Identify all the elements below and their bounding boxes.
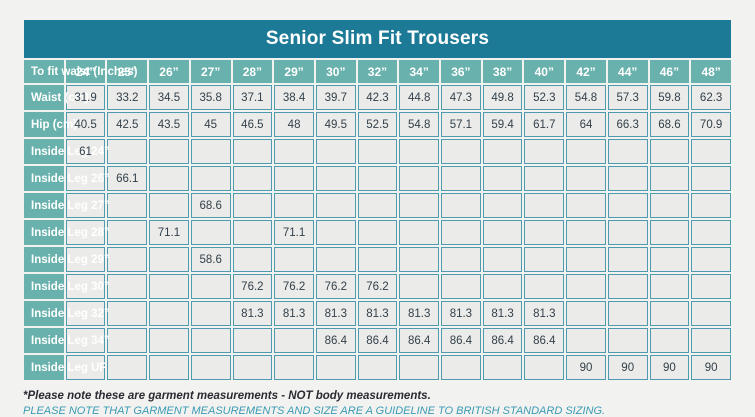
data-cell bbox=[358, 247, 398, 272]
data-cell bbox=[149, 139, 189, 164]
size-chart-body: Senior Slim Fit Trousers To fit waist (I… bbox=[24, 20, 731, 380]
data-cell bbox=[316, 166, 356, 191]
data-cell: 66.3 bbox=[608, 112, 648, 137]
data-cell bbox=[399, 193, 439, 218]
data-cell bbox=[650, 193, 690, 218]
data-cell bbox=[566, 274, 606, 299]
data-cell bbox=[107, 328, 147, 353]
data-cell: 81.3 bbox=[441, 301, 481, 326]
data-cell: 39.7 bbox=[316, 85, 356, 110]
data-cell: 81.3 bbox=[233, 301, 273, 326]
data-cell: 71.1 bbox=[274, 220, 314, 245]
data-cell: 81.3 bbox=[274, 301, 314, 326]
data-cell bbox=[691, 220, 731, 245]
data-cell: 68.6 bbox=[650, 112, 690, 137]
data-cell bbox=[483, 166, 523, 191]
data-cell: 76.2 bbox=[274, 274, 314, 299]
row-label: Inside Leg 29” bbox=[24, 247, 64, 272]
chart-title: Senior Slim Fit Trousers bbox=[24, 20, 731, 58]
row-label-header: To fit waist (Inches) bbox=[24, 60, 64, 83]
data-cell bbox=[483, 247, 523, 272]
data-cell bbox=[650, 328, 690, 353]
data-cell bbox=[441, 274, 481, 299]
table-row: Inside Leg 24”61 bbox=[24, 139, 731, 164]
data-cell bbox=[608, 220, 648, 245]
data-cell bbox=[274, 139, 314, 164]
row-label: Inside Leg 32” bbox=[24, 301, 64, 326]
row-label: Inside Leg 26” bbox=[24, 166, 64, 191]
column-header: 32” bbox=[358, 60, 398, 83]
size-chart-page: Senior Slim Fit Trousers To fit waist (I… bbox=[0, 0, 755, 410]
footnote-secondary: PLEASE NOTE THAT GARMENT MEASUREMENTS AN… bbox=[23, 405, 733, 417]
column-header: 26” bbox=[149, 60, 189, 83]
data-cell bbox=[274, 193, 314, 218]
data-cell bbox=[441, 355, 481, 380]
data-cell bbox=[608, 247, 648, 272]
data-cell: 86.4 bbox=[441, 328, 481, 353]
data-cell bbox=[233, 220, 273, 245]
data-cell bbox=[566, 247, 606, 272]
table-row: Inside Leg 28”71.171.1 bbox=[24, 220, 731, 245]
data-cell: 54.8 bbox=[399, 112, 439, 137]
data-cell: 52.5 bbox=[358, 112, 398, 137]
data-cell bbox=[399, 166, 439, 191]
data-cell bbox=[399, 247, 439, 272]
column-header: 28” bbox=[233, 60, 273, 83]
data-cell bbox=[608, 166, 648, 191]
data-cell: 47.3 bbox=[441, 85, 481, 110]
data-cell bbox=[107, 301, 147, 326]
data-cell bbox=[191, 328, 231, 353]
size-chart-table: Senior Slim Fit Trousers To fit waist (I… bbox=[22, 18, 733, 382]
data-cell bbox=[233, 166, 273, 191]
table-row: Inside Leg 29”58.6 bbox=[24, 247, 731, 272]
data-cell bbox=[149, 301, 189, 326]
data-cell bbox=[608, 274, 648, 299]
row-label: Inside Leg 24” bbox=[24, 139, 64, 164]
data-cell bbox=[191, 139, 231, 164]
data-cell bbox=[399, 274, 439, 299]
data-cell: 81.3 bbox=[399, 301, 439, 326]
table-row: Inside Leg 27”68.6 bbox=[24, 193, 731, 218]
column-header: 30” bbox=[316, 60, 356, 83]
data-cell: 90 bbox=[650, 355, 690, 380]
data-cell bbox=[233, 355, 273, 380]
data-cell: 35.8 bbox=[191, 85, 231, 110]
data-cell: 44.8 bbox=[399, 85, 439, 110]
data-cell bbox=[358, 355, 398, 380]
data-cell bbox=[191, 274, 231, 299]
data-cell: 81.3 bbox=[358, 301, 398, 326]
data-cell bbox=[191, 355, 231, 380]
column-header: 48” bbox=[691, 60, 731, 83]
data-cell bbox=[691, 274, 731, 299]
data-cell bbox=[483, 220, 523, 245]
data-cell bbox=[107, 274, 147, 299]
data-cell bbox=[524, 274, 564, 299]
data-cell: 46.5 bbox=[233, 112, 273, 137]
data-cell: 86.4 bbox=[399, 328, 439, 353]
data-cell bbox=[691, 193, 731, 218]
data-cell bbox=[608, 193, 648, 218]
data-cell bbox=[650, 274, 690, 299]
data-cell bbox=[566, 139, 606, 164]
data-cell bbox=[358, 139, 398, 164]
data-cell bbox=[441, 166, 481, 191]
data-cell bbox=[691, 139, 731, 164]
data-cell bbox=[608, 301, 648, 326]
data-cell bbox=[566, 193, 606, 218]
data-cell bbox=[358, 166, 398, 191]
data-cell bbox=[149, 166, 189, 191]
data-cell bbox=[483, 139, 523, 164]
data-cell bbox=[358, 220, 398, 245]
data-cell: 49.8 bbox=[483, 85, 523, 110]
column-header: 44” bbox=[608, 60, 648, 83]
data-cell bbox=[608, 328, 648, 353]
data-cell bbox=[441, 220, 481, 245]
column-header-row: To fit waist (Inches) 24”25”26”27”28”29”… bbox=[24, 60, 731, 83]
data-cell bbox=[191, 166, 231, 191]
data-cell bbox=[524, 166, 564, 191]
data-cell bbox=[524, 247, 564, 272]
data-cell bbox=[149, 193, 189, 218]
data-cell: 49.5 bbox=[316, 112, 356, 137]
data-cell: 76.2 bbox=[316, 274, 356, 299]
data-cell: 37.1 bbox=[233, 85, 273, 110]
data-cell: 34.5 bbox=[149, 85, 189, 110]
data-cell bbox=[566, 328, 606, 353]
data-cell: 42.3 bbox=[358, 85, 398, 110]
data-cell bbox=[191, 301, 231, 326]
table-row: Inside Leg 34”86.486.486.486.486.486.4 bbox=[24, 328, 731, 353]
data-cell: 90 bbox=[608, 355, 648, 380]
data-cell bbox=[233, 193, 273, 218]
data-cell bbox=[524, 220, 564, 245]
data-cell bbox=[316, 355, 356, 380]
data-cell bbox=[524, 139, 564, 164]
data-cell: 71.1 bbox=[149, 220, 189, 245]
data-cell: 86.4 bbox=[316, 328, 356, 353]
data-cell: 81.3 bbox=[316, 301, 356, 326]
data-cell: 57.1 bbox=[441, 112, 481, 137]
data-cell: 58.6 bbox=[191, 247, 231, 272]
column-header: 29” bbox=[274, 60, 314, 83]
data-cell bbox=[650, 139, 690, 164]
data-cell bbox=[691, 166, 731, 191]
data-cell bbox=[566, 166, 606, 191]
data-cell: 70.9 bbox=[691, 112, 731, 137]
row-label: Waist (cm)* bbox=[24, 85, 64, 110]
data-cell: 42.5 bbox=[107, 112, 147, 137]
data-cell: 81.3 bbox=[483, 301, 523, 326]
data-cell: 59.8 bbox=[650, 85, 690, 110]
data-cell bbox=[650, 166, 690, 191]
data-cell: 62.3 bbox=[691, 85, 731, 110]
column-header: 36” bbox=[441, 60, 481, 83]
title-row: Senior Slim Fit Trousers bbox=[24, 20, 731, 58]
data-cell bbox=[149, 247, 189, 272]
data-cell bbox=[358, 193, 398, 218]
data-cell bbox=[316, 220, 356, 245]
data-cell: 64 bbox=[566, 112, 606, 137]
data-cell bbox=[441, 139, 481, 164]
data-cell bbox=[691, 328, 731, 353]
column-header: 42” bbox=[566, 60, 606, 83]
data-cell bbox=[274, 328, 314, 353]
row-label: Inside Leg 34” bbox=[24, 328, 64, 353]
data-cell: 90 bbox=[691, 355, 731, 380]
data-cell: 57.3 bbox=[608, 85, 648, 110]
data-cell bbox=[316, 247, 356, 272]
data-cell bbox=[441, 247, 481, 272]
data-cell bbox=[316, 193, 356, 218]
data-cell bbox=[483, 355, 523, 380]
column-header: 46” bbox=[650, 60, 690, 83]
data-cell: 54.8 bbox=[566, 85, 606, 110]
data-cell bbox=[191, 220, 231, 245]
data-cell bbox=[316, 139, 356, 164]
row-label: Inside Leg 27” bbox=[24, 193, 64, 218]
data-cell: 48 bbox=[274, 112, 314, 137]
footnote-primary: *Please note these are garment measureme… bbox=[23, 390, 733, 402]
data-cell bbox=[107, 139, 147, 164]
data-cell: 68.6 bbox=[191, 193, 231, 218]
data-cell bbox=[233, 139, 273, 164]
data-cell: 81.3 bbox=[524, 301, 564, 326]
data-cell bbox=[107, 355, 147, 380]
row-label: Inside Leg UF bbox=[24, 355, 64, 380]
data-cell: 86.4 bbox=[524, 328, 564, 353]
data-cell bbox=[483, 274, 523, 299]
column-header: 40” bbox=[524, 60, 564, 83]
table-row: Inside Leg 30”76.276.276.276.2 bbox=[24, 274, 731, 299]
table-row: Hip (cm)*40.542.543.54546.54849.552.554.… bbox=[24, 112, 731, 137]
data-cell bbox=[274, 247, 314, 272]
data-cell: 86.4 bbox=[358, 328, 398, 353]
data-cell: 90 bbox=[566, 355, 606, 380]
table-row: Inside Leg 32”81.381.381.381.381.381.381… bbox=[24, 301, 731, 326]
data-cell bbox=[274, 355, 314, 380]
data-cell bbox=[233, 328, 273, 353]
data-cell bbox=[107, 247, 147, 272]
table-row: Inside Leg 26”66.1 bbox=[24, 166, 731, 191]
data-cell bbox=[483, 193, 523, 218]
data-cell: 66.1 bbox=[107, 166, 147, 191]
data-cell: 33.2 bbox=[107, 85, 147, 110]
data-cell bbox=[691, 247, 731, 272]
data-cell bbox=[650, 220, 690, 245]
data-cell bbox=[399, 220, 439, 245]
data-cell bbox=[650, 301, 690, 326]
data-cell bbox=[524, 355, 564, 380]
table-row: Inside Leg UF90909090 bbox=[24, 355, 731, 380]
row-label: Inside Leg 28” bbox=[24, 220, 64, 245]
data-cell bbox=[608, 139, 648, 164]
data-cell: 76.2 bbox=[358, 274, 398, 299]
data-cell: 86.4 bbox=[483, 328, 523, 353]
data-cell: 61.7 bbox=[524, 112, 564, 137]
data-cell bbox=[524, 193, 564, 218]
data-cell: 76.2 bbox=[233, 274, 273, 299]
data-cell bbox=[149, 274, 189, 299]
row-label: Inside Leg 30” bbox=[24, 274, 64, 299]
data-cell: 38.4 bbox=[274, 85, 314, 110]
data-cell bbox=[274, 166, 314, 191]
column-header: 38” bbox=[483, 60, 523, 83]
data-cell bbox=[691, 301, 731, 326]
data-cell bbox=[399, 355, 439, 380]
row-label: Hip (cm)* bbox=[24, 112, 64, 137]
data-cell bbox=[650, 247, 690, 272]
data-cell bbox=[107, 193, 147, 218]
data-cell bbox=[441, 193, 481, 218]
data-cell bbox=[149, 328, 189, 353]
data-cell: 45 bbox=[191, 112, 231, 137]
data-cell bbox=[233, 247, 273, 272]
column-header: 27” bbox=[191, 60, 231, 83]
data-cell bbox=[149, 355, 189, 380]
data-cell bbox=[107, 220, 147, 245]
data-cell bbox=[399, 139, 439, 164]
data-cell bbox=[566, 301, 606, 326]
table-row: Waist (cm)*31.933.234.535.837.138.439.74… bbox=[24, 85, 731, 110]
data-cell bbox=[566, 220, 606, 245]
data-cell: 59.4 bbox=[483, 112, 523, 137]
data-cell: 43.5 bbox=[149, 112, 189, 137]
data-cell: 52.3 bbox=[524, 85, 564, 110]
column-header: 34” bbox=[399, 60, 439, 83]
